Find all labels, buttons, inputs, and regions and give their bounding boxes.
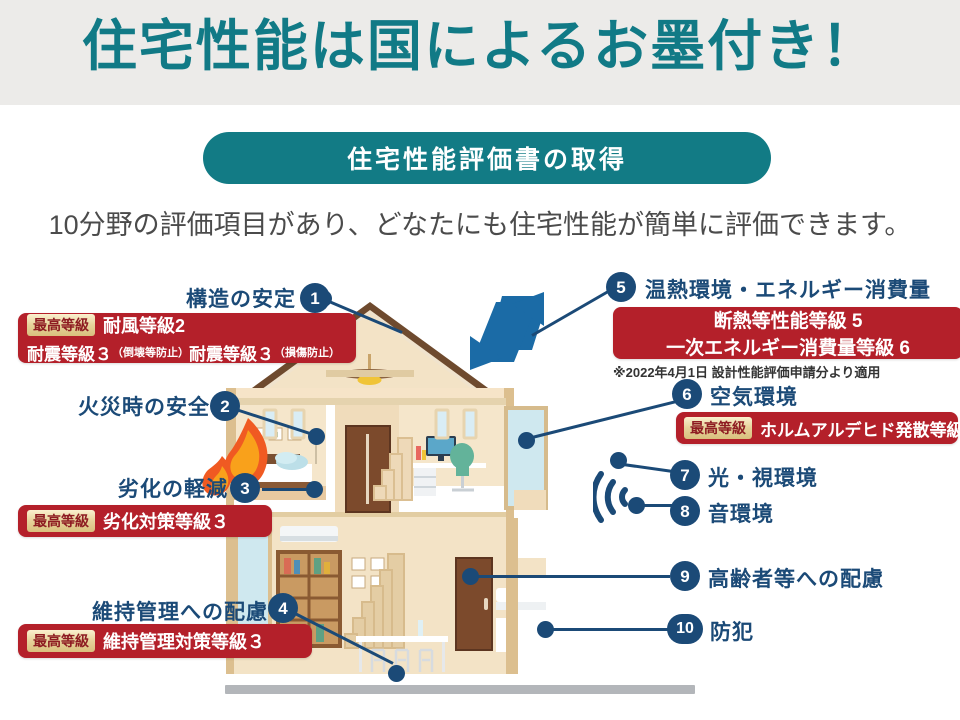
item-label-8: 音環境 xyxy=(708,498,774,528)
item-label-6: 空気環境 xyxy=(710,381,798,411)
anchor-dot-7 xyxy=(610,452,627,469)
top-grade-badge-3: 最高等級 xyxy=(27,510,95,532)
anchor-dot-6 xyxy=(518,432,535,449)
item-label-7: 光・視環境 xyxy=(708,462,818,492)
item-label-10: 防犯 xyxy=(710,616,754,646)
item-number-6: 6 xyxy=(672,379,702,409)
anchor-dot-8 xyxy=(628,497,645,514)
anchor-dot-9 xyxy=(462,568,479,585)
grade-text-3: 劣化対策等級３ xyxy=(103,508,229,534)
grade-plaque-3: 最高等級 劣化対策等級３ xyxy=(18,505,272,537)
item-label-5: 温熱環境・エネルギー消費量 xyxy=(645,274,931,304)
connector-line-9 xyxy=(470,575,670,578)
double-arrow-icon xyxy=(470,292,544,370)
grade-text-5b: 一次エネルギー消費量等級 6 xyxy=(666,333,910,360)
grade-text-5a: 断熱等性能等級 5 xyxy=(714,306,863,333)
top-grade-badge-6: 最高等級 xyxy=(684,417,752,439)
anchor-dot-3 xyxy=(306,481,323,498)
item-number-10: 10 xyxy=(667,614,703,644)
item-number-2: 2 xyxy=(210,391,240,421)
grade-plaque-5: 断熱等性能等級 5 一次エネルギー消費量等級 6 xyxy=(613,307,960,359)
anchor-dot-2 xyxy=(308,428,325,445)
item-label-2: 火災時の安全 xyxy=(78,391,210,421)
grade-note-5: ※2022年4月1日 設計性能評価申請分より適用 xyxy=(613,362,880,381)
item-label-9: 高齢者等への配慮 xyxy=(708,563,884,593)
anchor-dot-10 xyxy=(537,621,554,638)
section-pill: 住宅性能評価書の取得 xyxy=(203,132,771,184)
grade-text-6: ホルムアルデヒド発散等級3 xyxy=(760,416,960,441)
grade-note-1b: （倒壊等防止） xyxy=(112,344,189,360)
grade-text-4: 維持管理対策等級３ xyxy=(103,628,265,654)
item-number-3: 3 xyxy=(230,473,260,503)
grade-text-1a: 耐風等級2 xyxy=(103,312,185,338)
grade-plaque-6: 最高等級 ホルムアルデヒド発散等級3 xyxy=(676,412,958,444)
item-number-1: 1 xyxy=(300,283,330,313)
top-grade-badge-1: 最高等級 xyxy=(27,314,95,336)
grade-text-1b: 耐震等級３ xyxy=(27,340,112,365)
grade-plaque-4: 最高等級 維持管理対策等級３ xyxy=(18,624,312,658)
subtitle-text: 10分野の評価項目があり、どなたにも住宅性能が簡単に評価できます。 xyxy=(0,203,960,242)
section-pill-label: 住宅性能評価書の取得 xyxy=(347,140,627,176)
item-number-9: 9 xyxy=(670,561,700,591)
connector-line-10 xyxy=(545,628,673,631)
item-number-8: 8 xyxy=(670,496,700,526)
item-number-7: 7 xyxy=(670,460,700,490)
grade-note-1c: （損傷防止） xyxy=(274,344,340,360)
item-label-3: 劣化の軽減 xyxy=(118,473,228,503)
item-number-4: 4 xyxy=(268,593,298,623)
item-label-1: 構造の安定 xyxy=(186,283,296,313)
page-title: 住宅性能は国によるお墨付き！ xyxy=(0,14,960,80)
item-number-5: 5 xyxy=(606,272,636,302)
ground-bar xyxy=(225,685,695,694)
anchor-dot-4 xyxy=(388,665,405,682)
grade-text-1c: 耐震等級３ xyxy=(189,340,274,365)
item-label-4: 維持管理への配慮 xyxy=(92,596,268,626)
top-grade-badge-4: 最高等級 xyxy=(27,630,95,652)
grade-plaque-1: 最高等級 耐風等級2 耐震等級３ （倒壊等防止） 耐震等級３ （損傷防止） xyxy=(18,313,356,363)
infographic-root: 住宅性能は国によるお墨付き！ 住宅性能評価書の取得 10分野の評価項目があり、ど… xyxy=(0,0,960,720)
